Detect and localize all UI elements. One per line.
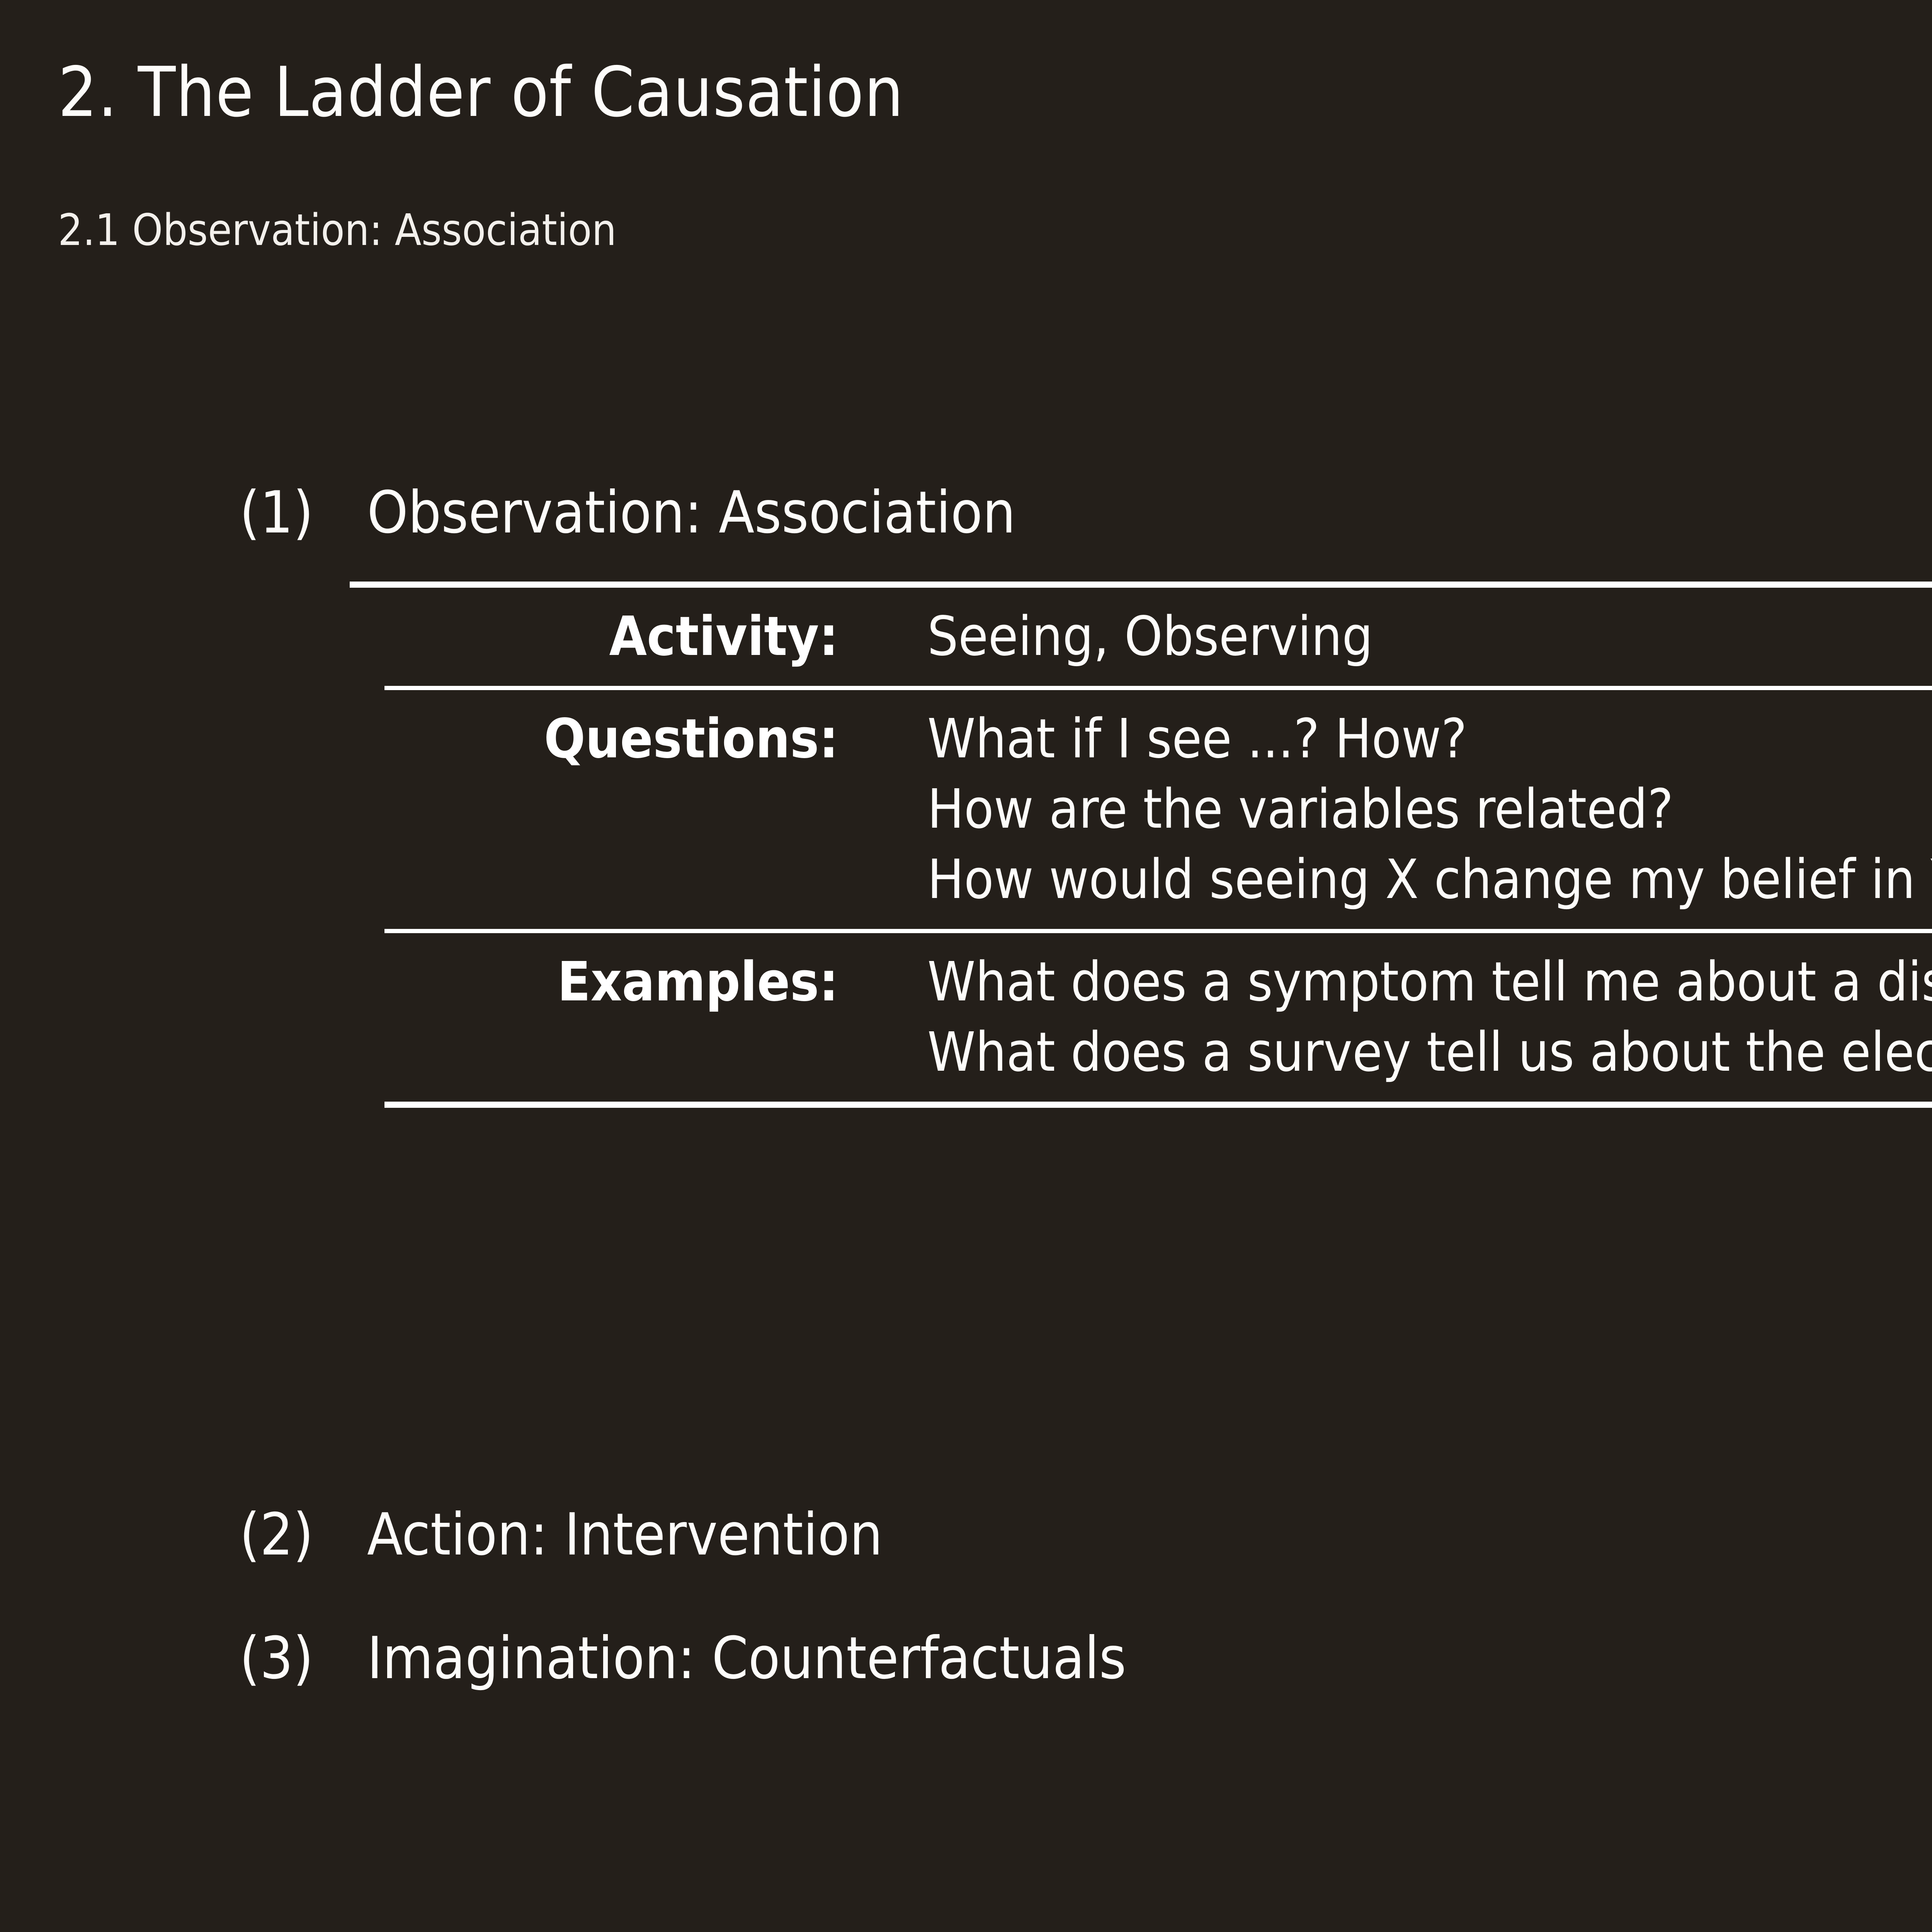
page-subtitle: 2.1 Observation: Association	[58, 209, 616, 252]
list-item-label: Observation: Association	[367, 479, 1015, 546]
row-value: What does a symptom tell me about a dise…	[838, 947, 1932, 1088]
row-value-line: How are the variables related?	[927, 774, 1932, 845]
row-value-line: How would seeing X change my belief in Y…	[927, 845, 1932, 915]
row-value-line: What does a survey tell us about the ele…	[927, 1017, 1932, 1088]
list-item: (3) Imagination: Counterfactuals	[240, 1625, 1126, 1692]
row-value: What if I see ...? How? How are the vari…	[838, 704, 1932, 915]
ladder-table: Activity: Seeing, Observing Questions: W…	[384, 582, 1932, 1108]
table-row: Questions: What if I see ...? How? How a…	[384, 690, 1932, 929]
row-value: Seeing, Observing	[838, 602, 1932, 672]
row-label: Examples:	[384, 947, 838, 1017]
table-midrule	[384, 686, 1932, 690]
list-item-label: Imagination: Counterfactuals	[367, 1625, 1126, 1692]
row-value-line: Seeing, Observing	[927, 602, 1932, 672]
list-item-number: (2)	[240, 1501, 367, 1568]
list-item-number: (3)	[240, 1625, 367, 1692]
table-row: Activity: Seeing, Observing	[384, 588, 1932, 686]
row-label: Questions:	[384, 704, 838, 774]
list-item-label: Action: Intervention	[367, 1501, 883, 1568]
slide-canvas: 2. The Ladder of Causation 2.1 Observati…	[0, 0, 1932, 1932]
row-value-line: What if I see ...? How?	[927, 704, 1932, 774]
list-item-number: (1)	[240, 479, 367, 546]
list-item: (2) Action: Intervention	[240, 1501, 883, 1568]
table-toprule	[350, 582, 1932, 588]
table-row: Examples: What does a symptom tell me ab…	[384, 933, 1932, 1102]
table-midrule	[384, 929, 1932, 933]
row-value-line: What does a symptom tell me about a dise…	[927, 947, 1932, 1017]
row-label: Activity:	[384, 602, 838, 672]
table-bottomrule	[384, 1102, 1932, 1108]
page-title: 2. The Ladder of Causation	[58, 58, 904, 127]
list-item: (1) Observation: Association	[240, 479, 1015, 546]
